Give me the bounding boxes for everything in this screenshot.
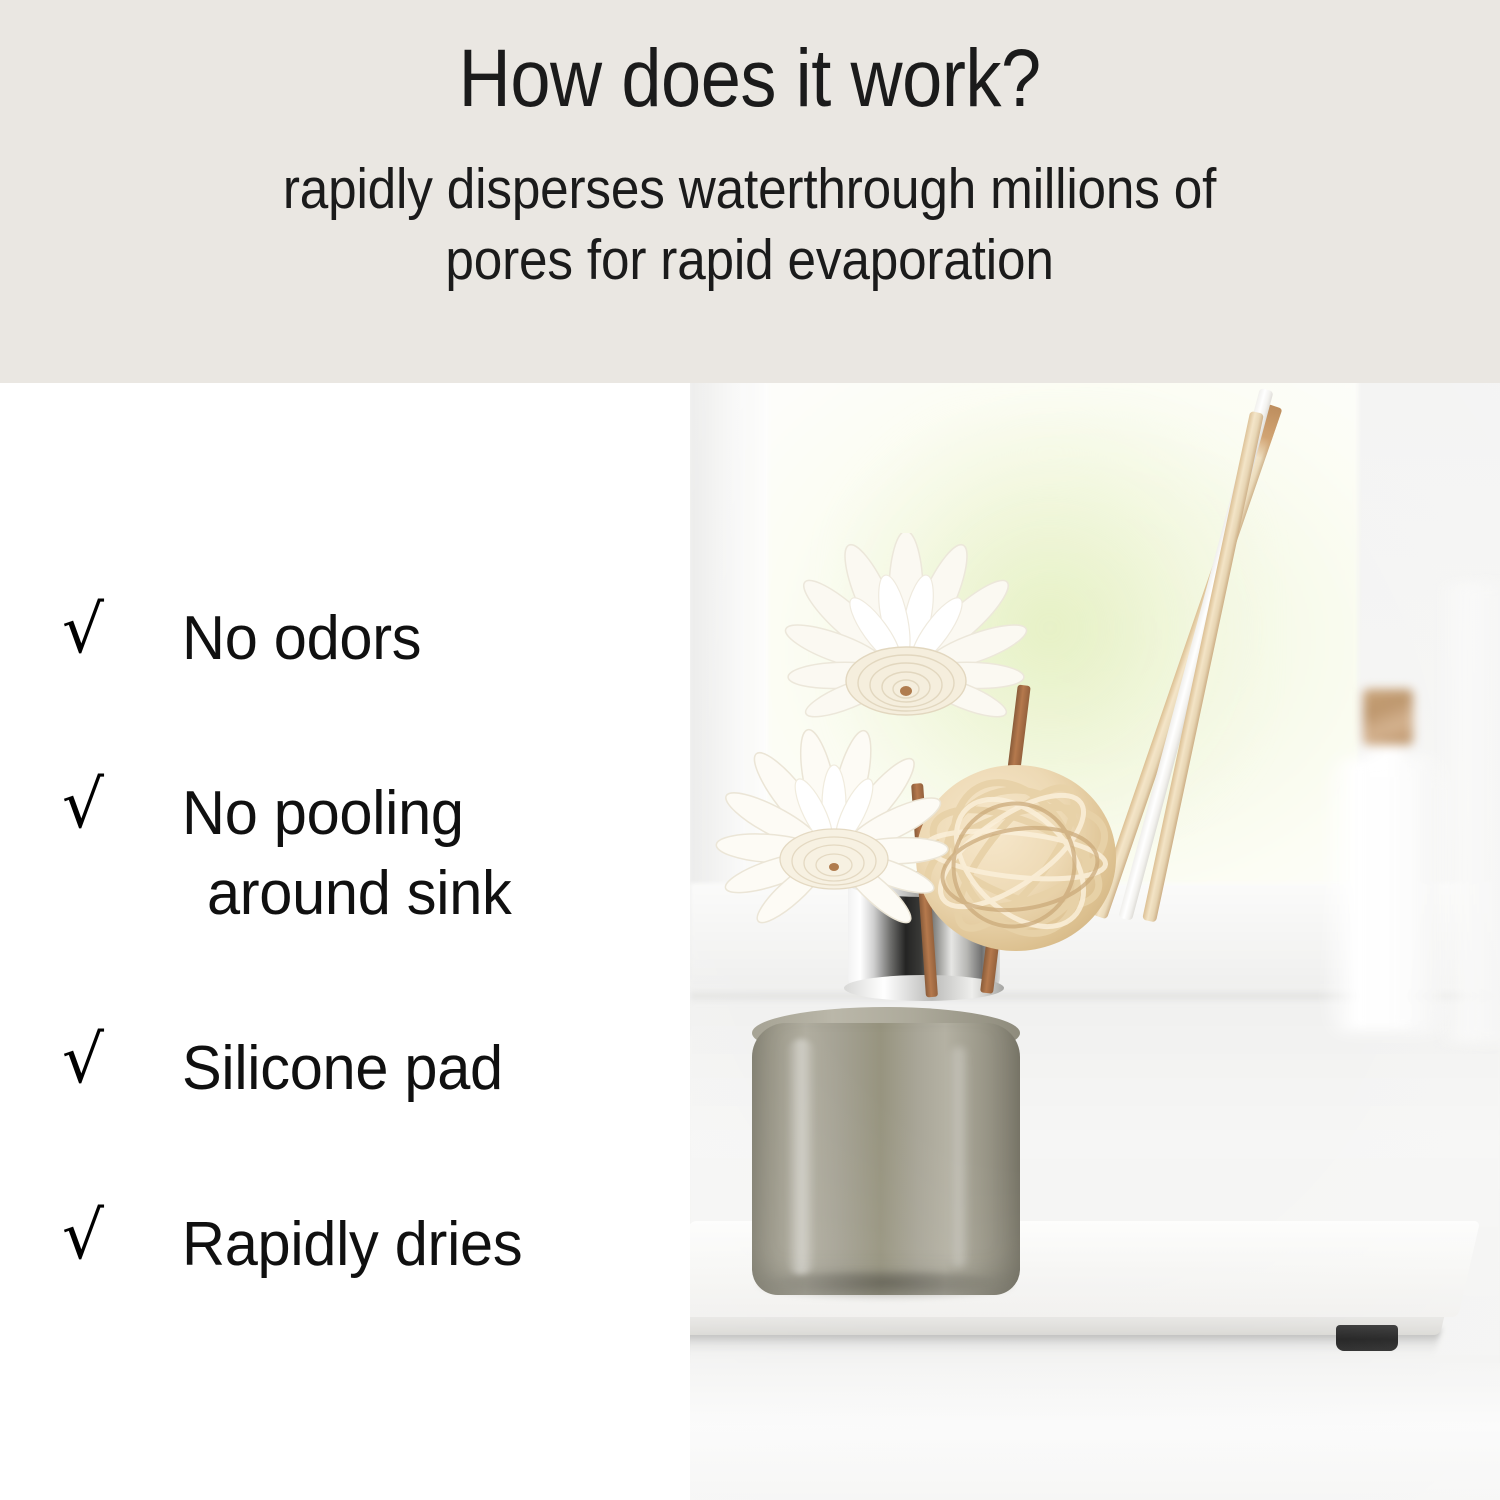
list-item-line-1: Rapidly dries	[182, 1210, 522, 1279]
list-item-line-1: Silicone pad	[182, 1034, 503, 1103]
feature-list-panel: √ No odors √ No pooling around sink √ Si…	[0, 383, 690, 1500]
counter-foreground	[690, 1363, 1500, 1500]
page-title: How does it work?	[459, 38, 1041, 120]
subtitle-line-2: pores for rapid evaporation	[283, 225, 1216, 296]
list-item-line-1: No odors	[182, 604, 421, 673]
list-item-line-1: No pooling	[182, 779, 464, 848]
checkmark-icon: √	[62, 599, 182, 662]
checkmark-icon: √	[62, 774, 182, 837]
cork-stopper-icon	[1363, 689, 1413, 745]
diffuser-bottle	[752, 995, 1020, 1295]
tray-rubber-foot	[1336, 1325, 1398, 1351]
bottle-highlight-left	[786, 1039, 816, 1275]
background-cork-bottle	[1327, 683, 1447, 1028]
list-item: √ Silicone pad	[0, 1029, 690, 1108]
page-subtitle: rapidly disperses waterthrough millions …	[283, 154, 1216, 295]
subtitle-line-1: rapidly disperses waterthrough millions …	[283, 154, 1216, 225]
background-bottle-body	[1335, 761, 1439, 1029]
list-item: √ No pooling around sink	[0, 774, 690, 933]
sola-wood-flower-lower	[690, 713, 984, 963]
checkmark-icon: √	[62, 1029, 182, 1092]
list-item-label: No odors	[182, 599, 670, 678]
list-item-line-2: around sink	[182, 854, 670, 933]
bottle-base-shadow	[758, 1271, 1014, 1299]
list-item-label: Rapidly dries	[182, 1205, 670, 1284]
infographic-page: How does it work? rapidly disperses wate…	[0, 0, 1500, 1500]
list-item-label: No pooling around sink	[182, 774, 670, 933]
product-photo	[690, 383, 1500, 1500]
sola-flower-icon	[690, 713, 984, 963]
list-item-label: Silicone pad	[182, 1029, 670, 1108]
checkmark-icon: √	[62, 1205, 182, 1268]
bottle-highlight-right	[948, 1047, 970, 1267]
list-item: √ No odors	[0, 599, 690, 678]
list-item: √ Rapidly dries	[0, 1205, 690, 1284]
feature-checklist: √ No odors √ No pooling around sink √ Si…	[0, 383, 690, 1500]
header-band: How does it work? rapidly disperses wate…	[0, 0, 1500, 383]
